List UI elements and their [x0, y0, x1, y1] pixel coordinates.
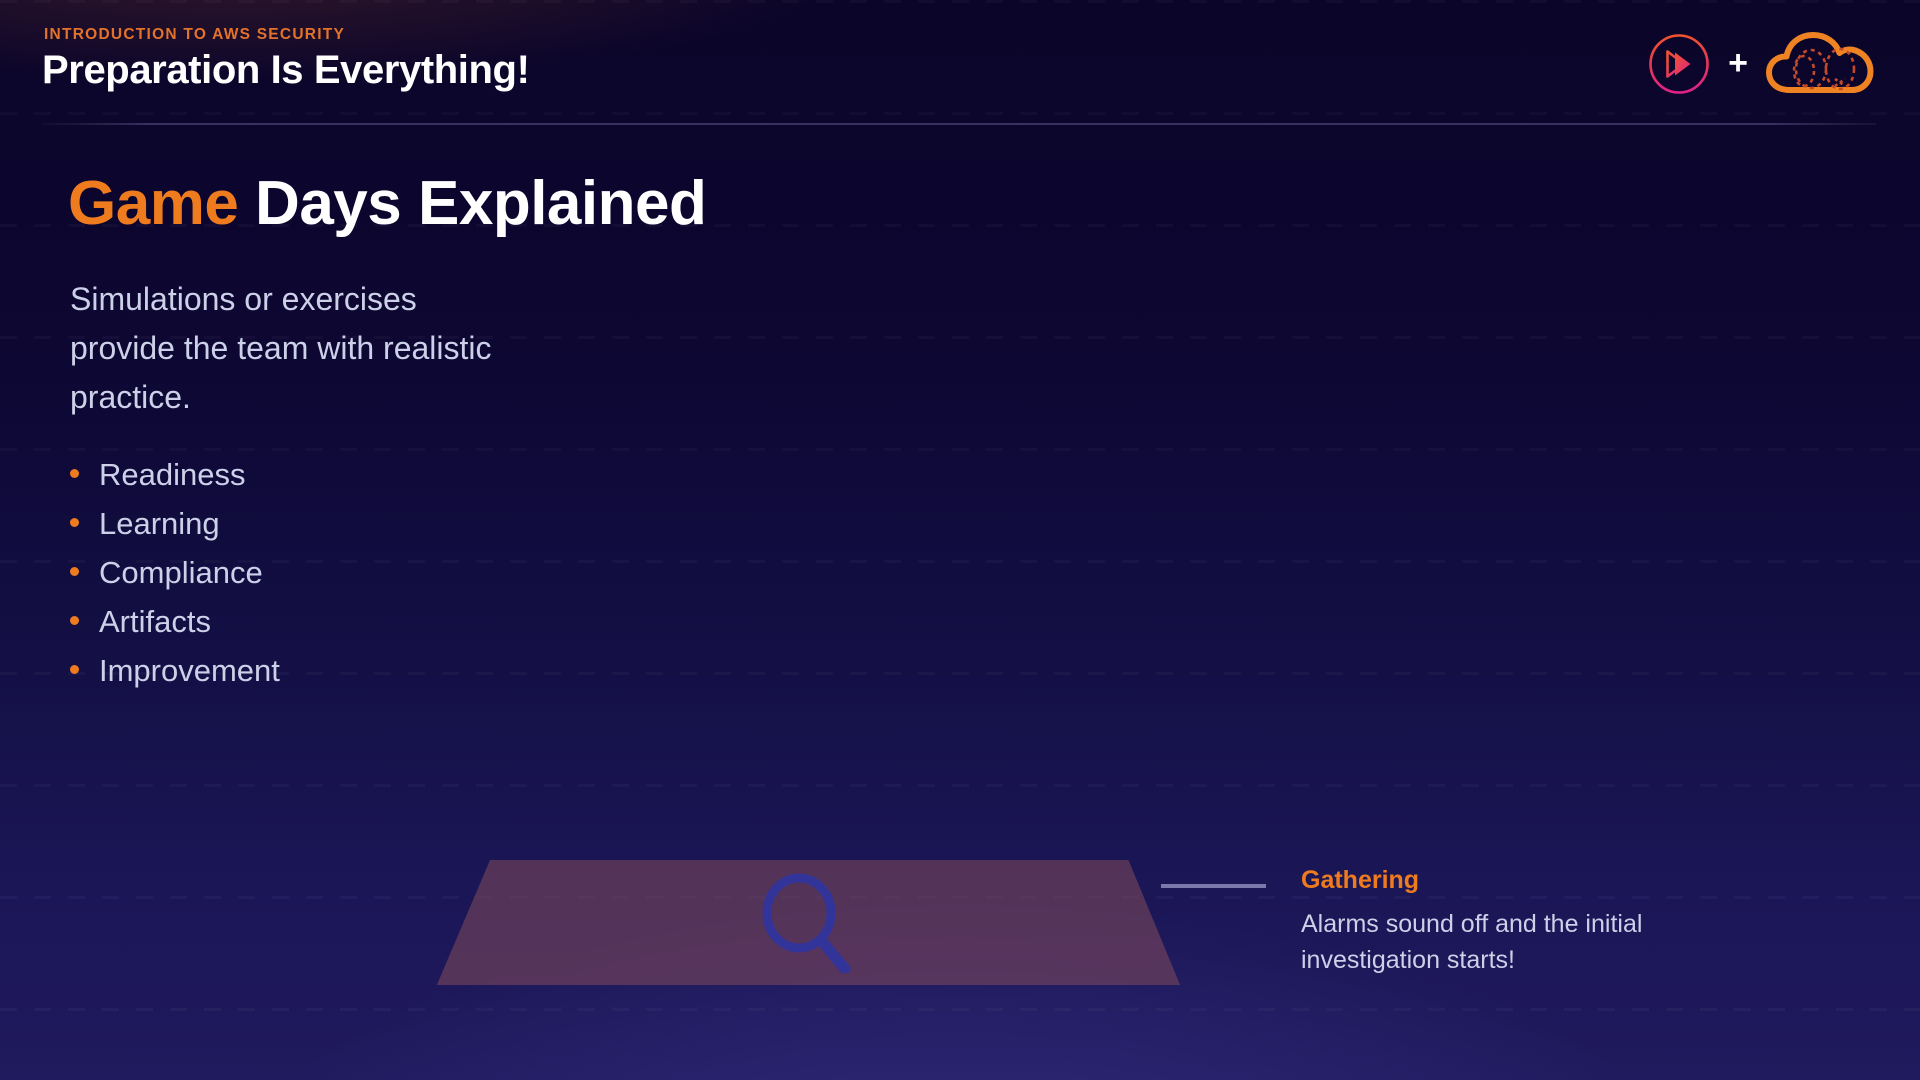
- play-forward-circle-icon: [1648, 33, 1710, 95]
- page-title-rest: Days Explained: [238, 169, 706, 238]
- list-item-label: Readiness: [99, 450, 245, 499]
- list-item-label: Improvement: [99, 646, 280, 695]
- lede-paragraph: Simulations or exercises provide the tea…: [70, 275, 520, 422]
- list-item-label: Learning: [99, 499, 220, 548]
- header-eyebrow: INTRODUCTION TO AWS SECURITY: [44, 26, 345, 44]
- list-item-label: Compliance: [99, 548, 263, 597]
- connector-line: [1161, 884, 1266, 888]
- bullet-dot-icon: [70, 616, 79, 625]
- magnifying-glass-icon: [757, 873, 862, 973]
- bullet-dot-icon: [70, 469, 79, 478]
- header-title: Preparation Is Everything!: [42, 48, 530, 93]
- bullet-dot-icon: [70, 665, 79, 674]
- callout-body: Alarms sound off and the initial investi…: [1301, 906, 1771, 978]
- header-divider: [42, 123, 1876, 125]
- cloud-icon: [1766, 29, 1878, 99]
- callout-block: Gathering Alarms sound off and the initi…: [1301, 866, 1771, 978]
- slide-root: INTRODUCTION TO AWS SECURITY Preparation…: [0, 0, 1920, 1080]
- page-title: Game Days Explained: [68, 168, 706, 239]
- bullet-list: Readiness Learning Compliance Artifacts …: [70, 450, 280, 695]
- slide-header: INTRODUCTION TO AWS SECURITY Preparation…: [0, 0, 1920, 130]
- list-item: Readiness: [70, 450, 280, 499]
- list-item: Artifacts: [70, 597, 280, 646]
- logo-group: +: [1648, 20, 1878, 108]
- list-item: Learning: [70, 499, 280, 548]
- bullet-dot-icon: [70, 518, 79, 527]
- list-item: Compliance: [70, 548, 280, 597]
- plus-icon: +: [1728, 46, 1748, 83]
- list-item-label: Artifacts: [99, 597, 211, 646]
- callout-title: Gathering: [1301, 866, 1771, 895]
- page-title-accent: Game: [68, 169, 238, 238]
- list-item: Improvement: [70, 646, 280, 695]
- bullet-dot-icon: [70, 567, 79, 576]
